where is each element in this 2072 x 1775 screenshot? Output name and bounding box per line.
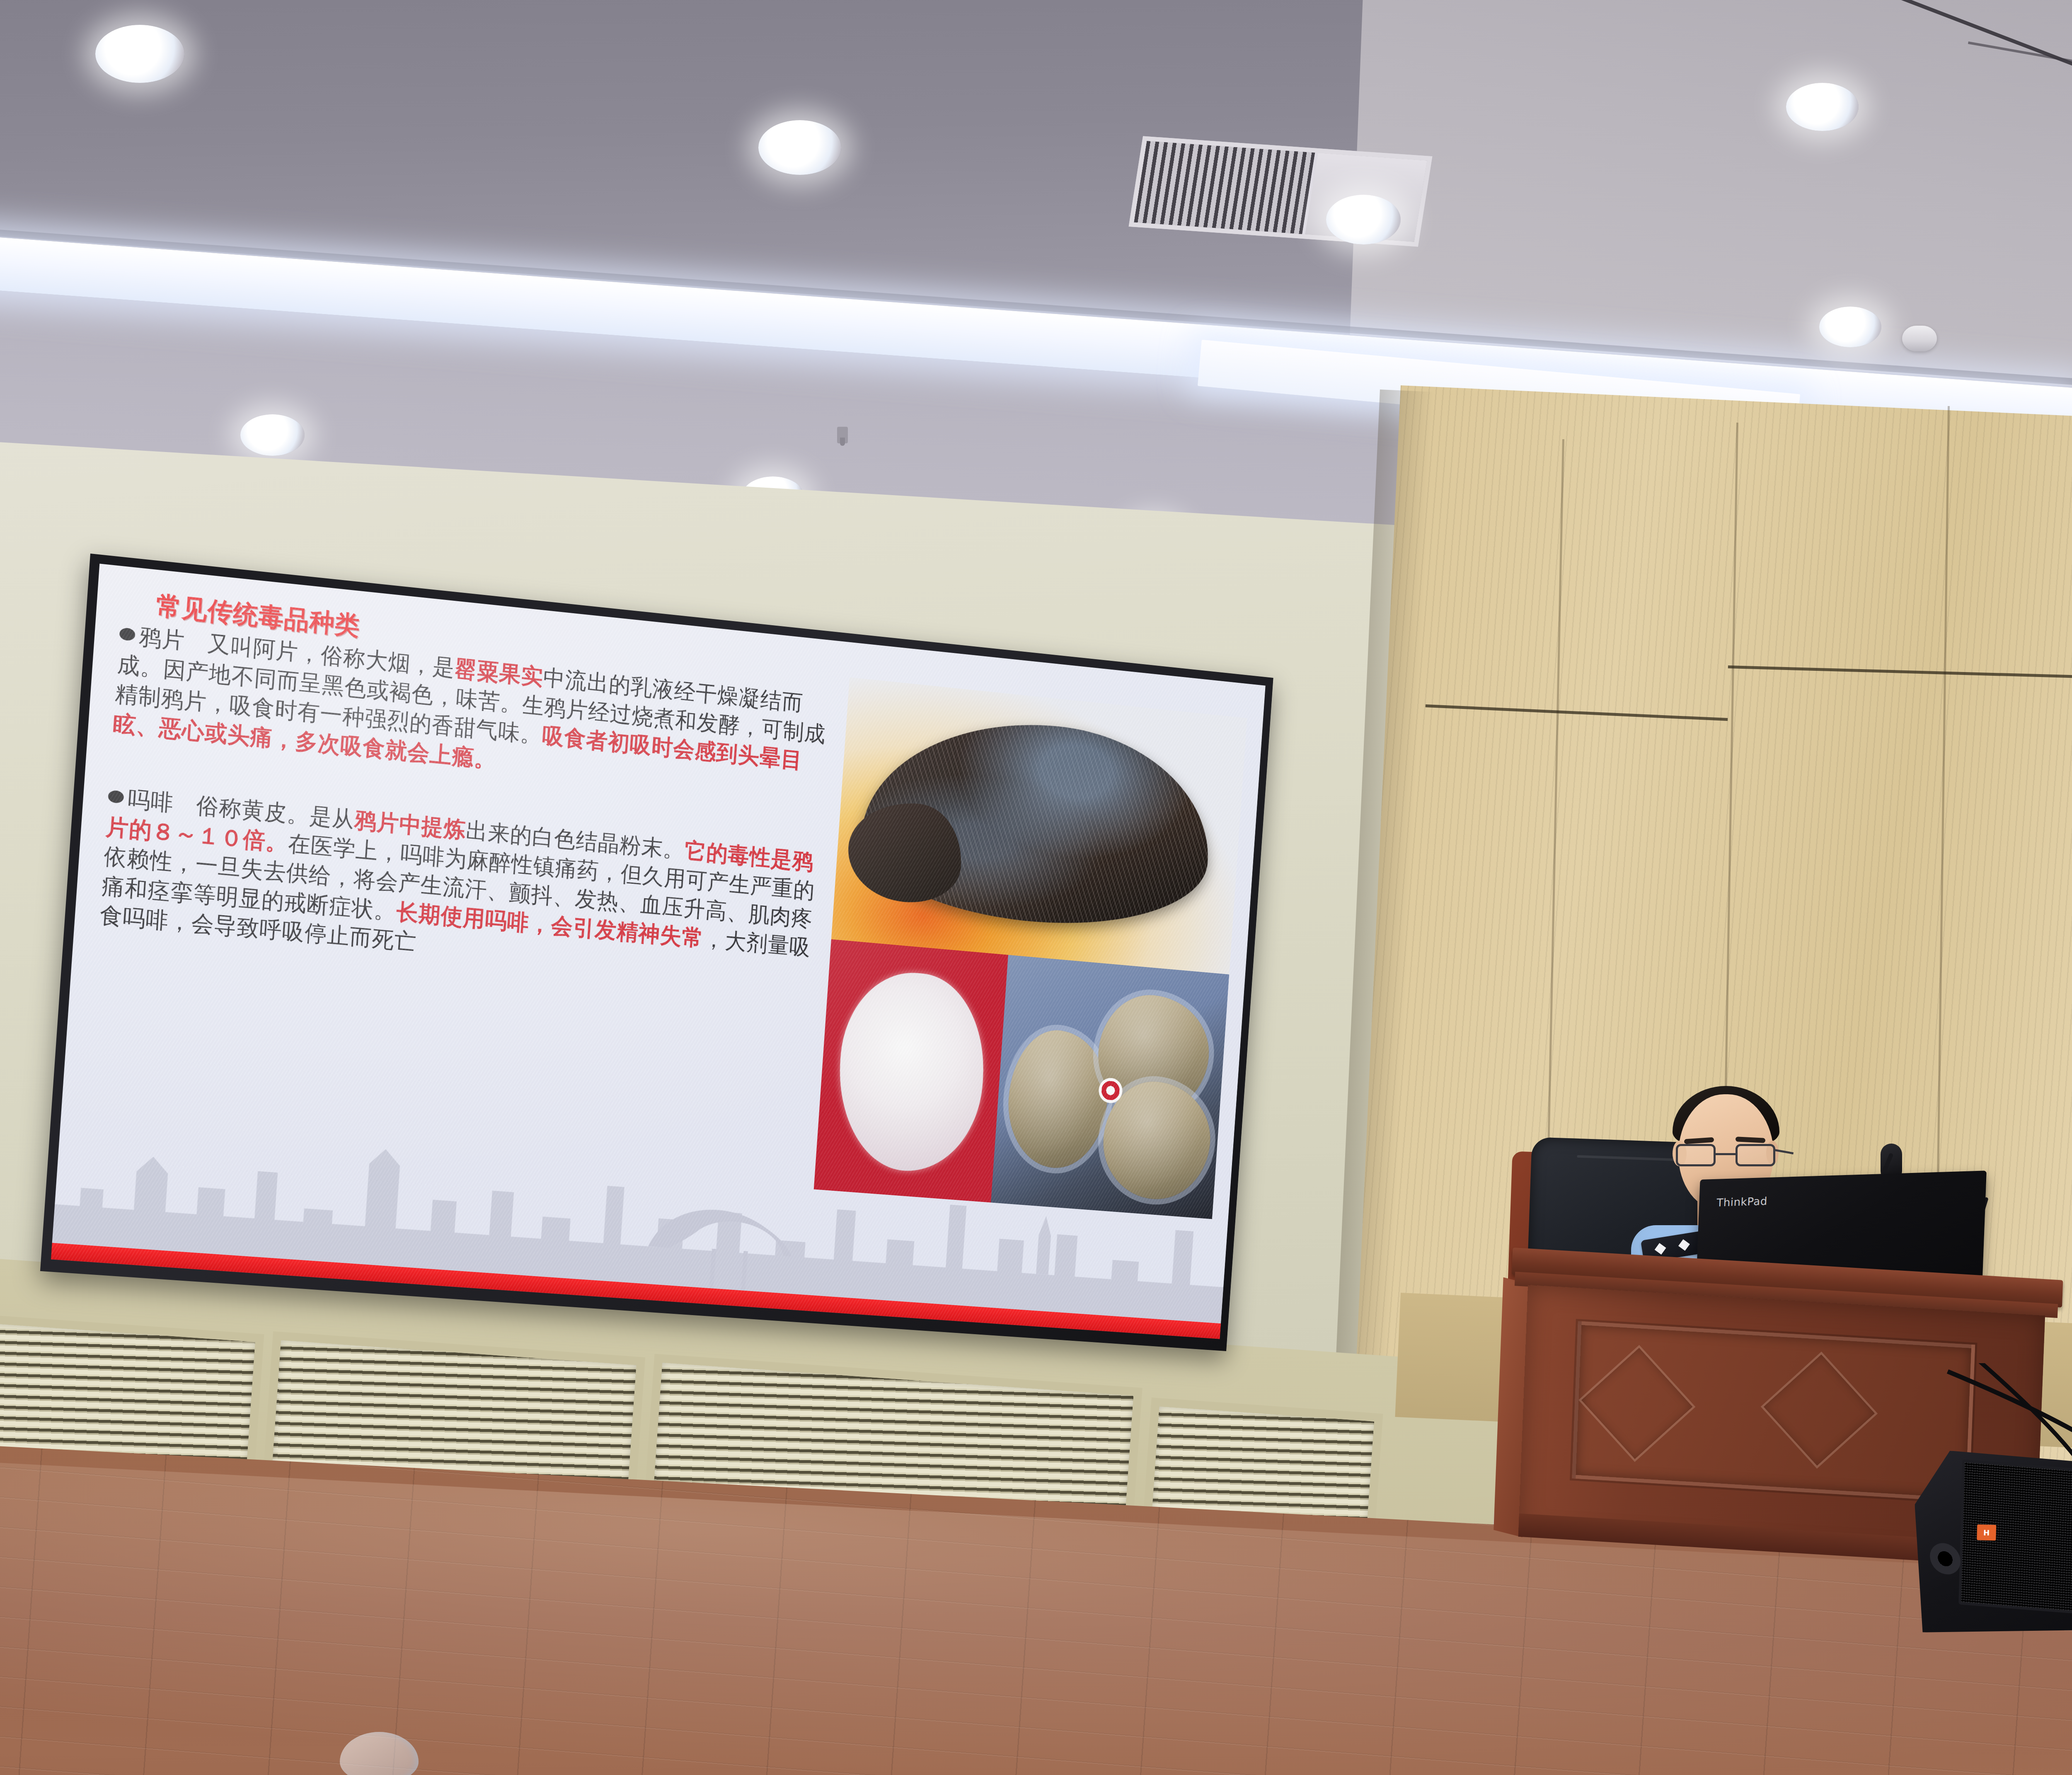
ceiling-downlight-3 [1326, 195, 1401, 244]
plastic-bag-1 [1004, 1027, 1112, 1172]
glasses-temple [1774, 1149, 1794, 1154]
smoke-detector [1902, 326, 1937, 351]
hvac-vent-blades [1134, 141, 1315, 234]
bullet-dot-icon-2 [108, 790, 124, 803]
ceiling-downlight-10 [1819, 307, 1881, 347]
rank-pip-icon-2 [1678, 1239, 1690, 1251]
laptop-brand-logo: ThinkPad [1716, 1195, 1767, 1209]
slide-content: 常见传统毒品种类 鸦片 又叫阿片，俗称大烟，是罂粟果实中流出的乳液经干燥凝结而成… [51, 563, 1266, 1339]
opium-block-photo [831, 677, 1247, 975]
powder-pile-shape [833, 967, 990, 1176]
audio-cable [1939, 1363, 2072, 1595]
bullet-dot-icon [119, 627, 136, 641]
scene-root: 常见传统毒品种类 鸦片 又叫阿片，俗称大烟，是罂粟果实中流出的乳液经干燥凝结而成… [0, 0, 2072, 1775]
powder-in-plastic-bags-photo [991, 955, 1229, 1219]
white-powder-on-red-photo [814, 939, 1008, 1202]
ceiling-downlight-4 [1786, 83, 1859, 131]
slide-surface: 常见传统毒品种类 鸦片 又叫阿片，俗称大烟，是罂粟果实中流出的乳液经干燥凝结而成… [51, 563, 1266, 1339]
glasses-icon [1674, 1144, 1778, 1167]
paragraph-morphine: 吗啡 俗称黄皮。是从鸦片中提炼出来的白色结晶粉末。它的毒性是鸦片的８～１０倍。在… [99, 782, 821, 991]
glasses-lens-left [1676, 1144, 1716, 1166]
screen-bezel: 常见传统毒品种类 鸦片 又叫阿片，俗称大烟，是罂粟果实中流出的乳液经干燥凝结而成… [40, 554, 1273, 1351]
ceiling-downlight-6 [240, 414, 305, 456]
sprinkler-head-1 [837, 427, 848, 443]
glasses-bridge [1716, 1153, 1736, 1155]
slide-image-row [814, 939, 1229, 1219]
glasses-lens-right [1736, 1144, 1775, 1166]
ceiling-downlight-2 [758, 120, 841, 175]
rank-pip-icon-1 [1655, 1243, 1666, 1255]
led-screen[interactable]: 常见传统毒品种类 鸦片 又叫阿片，俗称大烟，是罂粟果实中流出的乳液经干燥凝结而成… [40, 554, 1273, 1351]
slide-image-group [814, 677, 1247, 1219]
ceiling-downlight-1 [95, 25, 184, 83]
